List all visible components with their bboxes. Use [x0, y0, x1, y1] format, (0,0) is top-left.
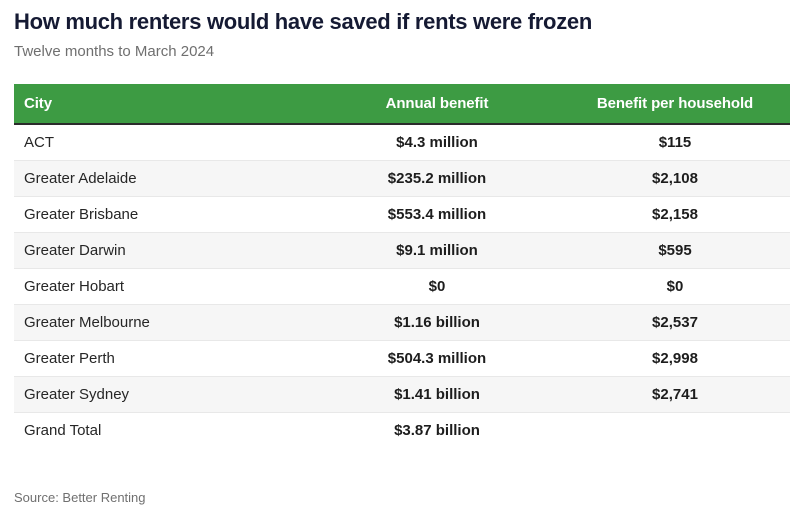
table-row: Greater Adelaide $235.2 million $2,108 — [14, 160, 790, 196]
table-row: Greater Melbourne $1.16 billion $2,537 — [14, 304, 790, 340]
cell-annual-benefit: $0 — [314, 268, 560, 304]
page-subtitle: Twelve months to March 2024 — [14, 36, 790, 62]
table-header-row: City Annual benefit Benefit per househol… — [14, 84, 790, 124]
cell-annual-benefit: $4.3 million — [314, 124, 560, 160]
cell-city: Greater Melbourne — [14, 304, 314, 340]
table-row: Greater Perth $504.3 million $2,998 — [14, 340, 790, 376]
table-row: Greater Sydney $1.41 billion $2,741 — [14, 376, 790, 412]
cell-benefit-per-household: $115 — [560, 124, 790, 160]
cell-city: Greater Hobart — [14, 268, 314, 304]
table-header: City Annual benefit Benefit per househol… — [14, 84, 790, 124]
cell-benefit-per-household: $0 — [560, 268, 790, 304]
cell-annual-benefit: $235.2 million — [314, 160, 560, 196]
source-note: Source: Better Renting — [14, 490, 146, 505]
table-row-grand-total: Grand Total $3.87 billion — [14, 412, 790, 448]
table-body: ACT $4.3 million $115 Greater Adelaide $… — [14, 124, 790, 448]
table-row: ACT $4.3 million $115 — [14, 124, 790, 160]
column-header-city[interactable]: City — [14, 84, 314, 124]
cell-city: Grand Total — [14, 412, 314, 448]
benefit-table: City Annual benefit Benefit per househol… — [14, 84, 790, 448]
cell-benefit-per-household: $2,741 — [560, 376, 790, 412]
cell-city: Greater Adelaide — [14, 160, 314, 196]
column-header-benefit-per-household[interactable]: Benefit per household — [560, 84, 790, 124]
cell-benefit-per-household: $595 — [560, 232, 790, 268]
cell-benefit-per-household: $2,998 — [560, 340, 790, 376]
page-title: How much renters would have saved if ren… — [14, 0, 790, 36]
table-container: City Annual benefit Benefit per househol… — [14, 84, 790, 448]
table-row: Greater Hobart $0 $0 — [14, 268, 790, 304]
cell-annual-benefit: $9.1 million — [314, 232, 560, 268]
cell-annual-benefit: $553.4 million — [314, 196, 560, 232]
cell-city: Greater Brisbane — [14, 196, 314, 232]
cell-city: Greater Darwin — [14, 232, 314, 268]
cell-benefit-per-household: $2,108 — [560, 160, 790, 196]
cell-city: ACT — [14, 124, 314, 160]
table-row: Greater Brisbane $553.4 million $2,158 — [14, 196, 790, 232]
cell-benefit-per-household: $2,158 — [560, 196, 790, 232]
cell-city: Greater Perth — [14, 340, 314, 376]
table-row: Greater Darwin $9.1 million $595 — [14, 232, 790, 268]
cell-annual-benefit: $3.87 billion — [314, 412, 560, 448]
cell-annual-benefit: $504.3 million — [314, 340, 560, 376]
cell-benefit-per-household — [560, 412, 790, 448]
cell-city: Greater Sydney — [14, 376, 314, 412]
infographic-table-page: How much renters would have saved if ren… — [0, 0, 804, 517]
cell-annual-benefit: $1.16 billion — [314, 304, 560, 340]
column-header-annual-benefit[interactable]: Annual benefit — [314, 84, 560, 124]
cell-annual-benefit: $1.41 billion — [314, 376, 560, 412]
cell-benefit-per-household: $2,537 — [560, 304, 790, 340]
